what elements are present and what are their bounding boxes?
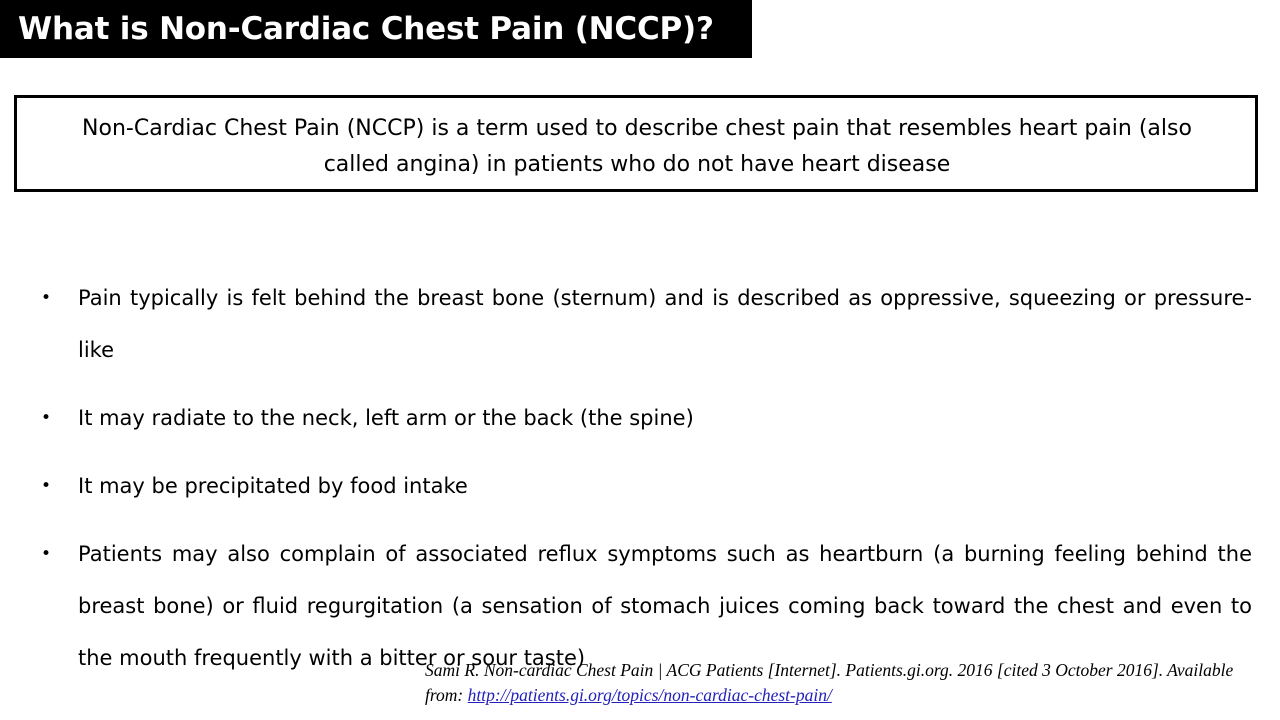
- list-item-label: It may radiate to the neck, left arm or …: [78, 392, 1252, 444]
- bullet-point-icon: •: [41, 460, 51, 512]
- list-item: • It may be precipitated by food intake: [34, 460, 1252, 512]
- title-banner: What is Non-Cardiac Chest Pain (NCCP)?: [0, 0, 752, 58]
- page-title: What is Non-Cardiac Chest Pain (NCCP)?: [18, 11, 714, 47]
- bullet-point-icon: •: [41, 528, 51, 580]
- bullet-point-icon: •: [41, 392, 51, 444]
- list-item: • Pain typically is felt behind the brea…: [34, 272, 1252, 376]
- list-item: • It may radiate to the neck, left arm o…: [34, 392, 1252, 444]
- definition-callout-box: Non-Cardiac Chest Pain (NCCP) is a term …: [14, 95, 1258, 192]
- bullet-list: • Pain typically is felt behind the brea…: [34, 272, 1252, 684]
- definition-text: Non-Cardiac Chest Pain (NCCP) is a term …: [61, 111, 1213, 183]
- list-item-label: It may be precipitated by food intake: [78, 460, 1252, 512]
- bullet-point-icon: •: [41, 272, 51, 324]
- list-item-label: Pain typically is felt behind the breast…: [78, 272, 1252, 376]
- citation-link[interactable]: http://patients.gi.org/topics/non-cardia…: [468, 685, 832, 705]
- citation: Sami R. Non-cardiac Chest Pain | ACG Pat…: [425, 658, 1255, 708]
- slide-canvas: What is Non-Cardiac Chest Pain (NCCP)? N…: [0, 0, 1280, 720]
